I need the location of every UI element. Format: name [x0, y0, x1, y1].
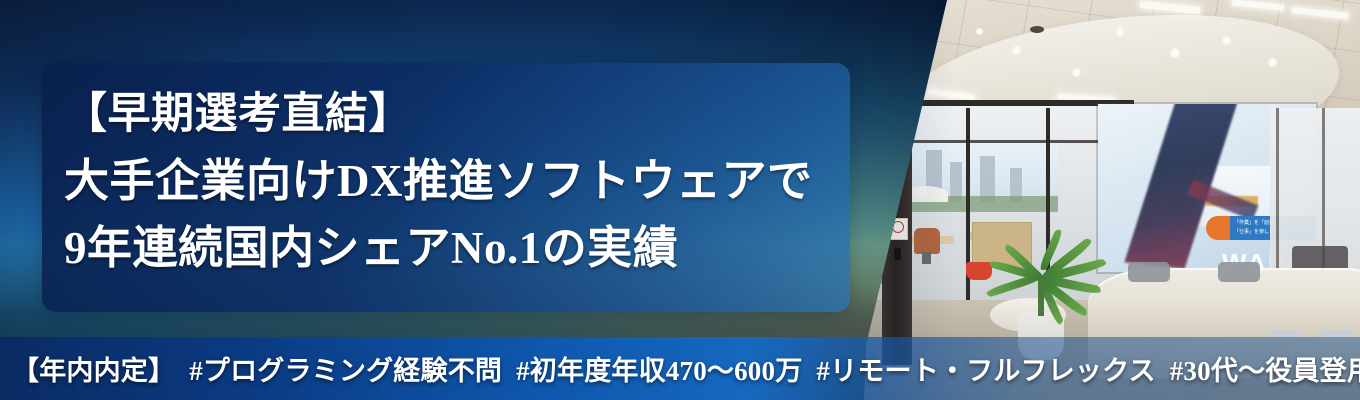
headline-card: 【早期選考直結】 大手企業向けDX推進ソフトウェアで 9年連続国内シェアNo.1… [42, 63, 850, 312]
headline-line-2: 大手企業向けDX推進ソフトウェアで [64, 148, 834, 215]
bottom-bar-tags: 【年内内定】 #プログラミング経験不問 #初年度年収470〜600万 #リモート… [12, 337, 1352, 400]
headline-line-3: 9年連続国内シェアNo.1の実績 [64, 215, 834, 282]
headline-text-block: 【早期選考直結】 大手企業向けDX推進ソフトウェアで 9年連続国内シェアNo.1… [64, 81, 834, 282]
tag-no-programming-experience: #プログラミング経験不問 [189, 349, 502, 388]
tag-remote-full-flex: #リモート・フルフレックス [816, 349, 1155, 388]
tag-nennai-naitei: 【年内内定】 [12, 349, 175, 388]
tag-executive-promotion: #30代〜役員登用実績あり [1170, 349, 1360, 388]
recruitment-banner: 「作業」を「創造」に変え、 「仕事」を楽しくする WAP WORKS [0, 0, 1360, 400]
headline-line-1: 【早期選考直結】 [64, 81, 834, 148]
tag-first-year-salary: #初年度年収470〜600万 [516, 349, 802, 388]
bottom-tag-bar: 【年内内定】 #プログラミング経験不問 #初年度年収470〜600万 #リモート… [0, 337, 1360, 400]
